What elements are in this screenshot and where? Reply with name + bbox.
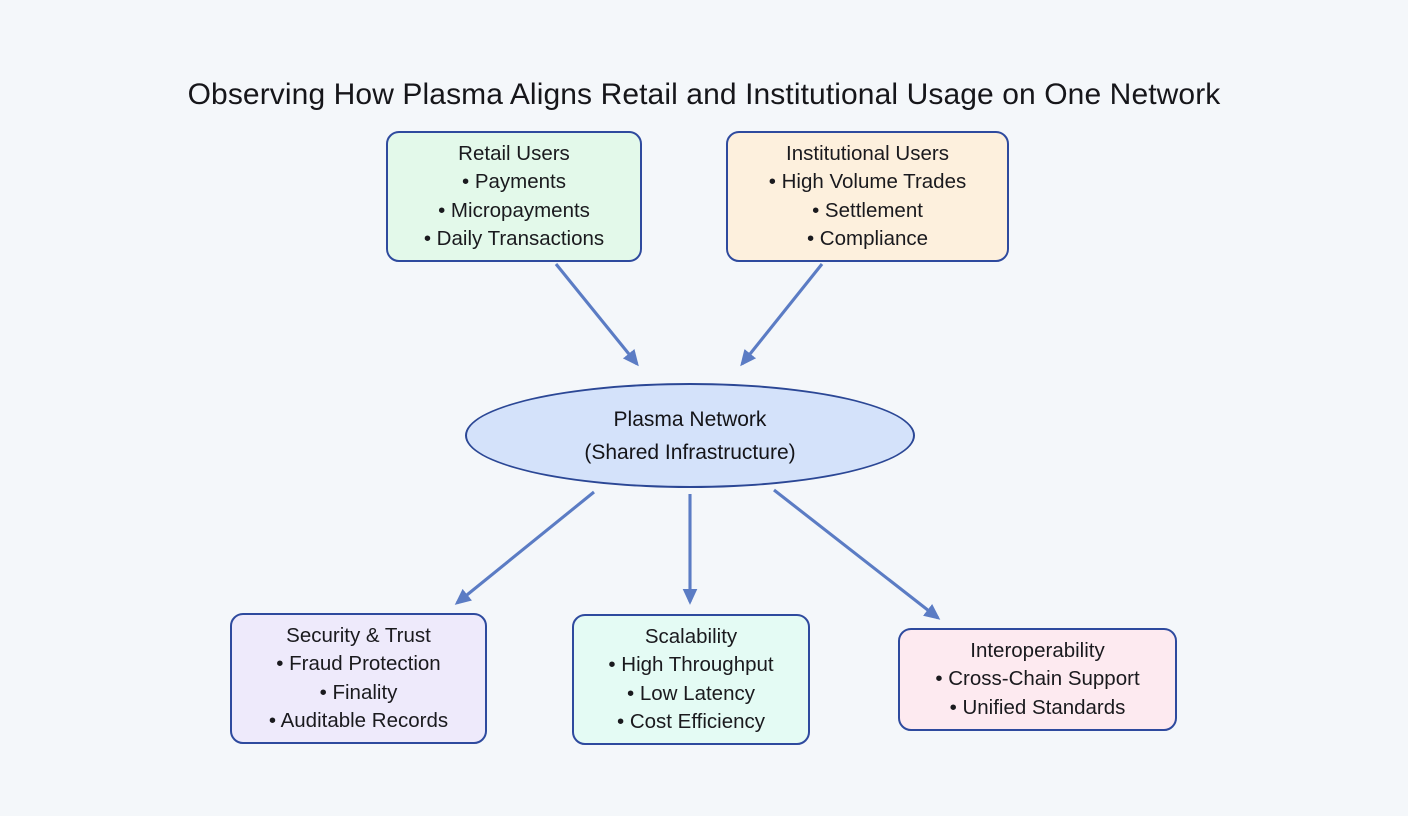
node-scalability-bullet-2: • Cost Efficiency — [617, 708, 765, 737]
node-retail-bullet-1: • Micropayments — [438, 197, 590, 226]
node-interop-heading: Interoperability — [970, 637, 1104, 666]
node-plasma-network[interactable]: Plasma Network (Shared Infrastructure) — [465, 383, 915, 488]
edge-plasma-to-security — [457, 492, 594, 603]
node-security-bullet-1: • Finality — [320, 679, 398, 708]
node-retail-bullet-2: • Daily Transactions — [424, 225, 604, 254]
edge-retail-to-plasma — [556, 264, 637, 364]
node-scalability[interactable]: Scalability • High Throughput • Low Late… — [572, 614, 810, 745]
node-security-and-trust[interactable]: Security & Trust • Fraud Protection • Fi… — [230, 613, 487, 744]
node-security-heading: Security & Trust — [286, 622, 431, 651]
node-retail-heading: Retail Users — [458, 140, 570, 169]
node-plasma-line1: Plasma Network — [614, 403, 767, 436]
node-retail-bullet-0: • Payments — [462, 168, 566, 197]
edge-plasma-to-interoperability — [774, 490, 938, 618]
node-institutional-bullet-2: • Compliance — [807, 225, 928, 254]
node-scalability-bullet-0: • High Throughput — [608, 651, 773, 680]
node-plasma-line2: (Shared Infrastructure) — [584, 436, 795, 469]
node-institutional-bullet-1: • Settlement — [812, 197, 923, 226]
page-title: Observing How Plasma Aligns Retail and I… — [0, 78, 1408, 112]
node-scalability-heading: Scalability — [645, 623, 737, 652]
node-interop-bullet-0: • Cross-Chain Support — [935, 665, 1139, 694]
diagram-canvas: Observing How Plasma Aligns Retail and I… — [0, 0, 1408, 816]
edge-institutional-to-plasma — [742, 264, 822, 364]
node-institutional-heading: Institutional Users — [786, 140, 949, 169]
node-security-bullet-2: • Auditable Records — [269, 707, 448, 736]
node-interop-bullet-1: • Unified Standards — [950, 694, 1126, 723]
node-retail-users[interactable]: Retail Users • Payments • Micropayments … — [386, 131, 642, 262]
node-security-bullet-0: • Fraud Protection — [276, 650, 440, 679]
node-interoperability[interactable]: Interoperability • Cross-Chain Support •… — [898, 628, 1177, 731]
node-institutional-bullet-0: • High Volume Trades — [769, 168, 966, 197]
node-scalability-bullet-1: • Low Latency — [627, 680, 755, 709]
node-institutional-users[interactable]: Institutional Users • High Volume Trades… — [726, 131, 1009, 262]
